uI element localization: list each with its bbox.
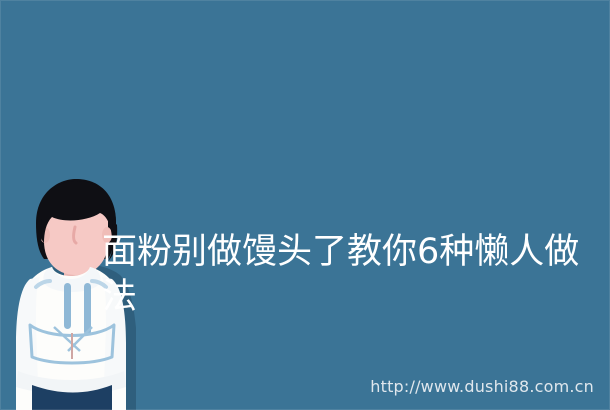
drawstring-right [84,283,91,335]
drawstring-left [64,283,71,329]
page-title: 面粉别做馒头了教你6种懒人做法 出锅比吃肉还香天天吃不腻 [102,140,598,410]
watermark-url: http://www.dushi88.com.cn [370,378,594,396]
headline-line-1: 面粉别做馒头了教你6种懒人做法 [102,230,598,320]
poster-canvas: 面粉别做馒头了教你6种懒人做法 出锅比吃肉还香天天吃不腻 http://www.… [0,0,610,410]
